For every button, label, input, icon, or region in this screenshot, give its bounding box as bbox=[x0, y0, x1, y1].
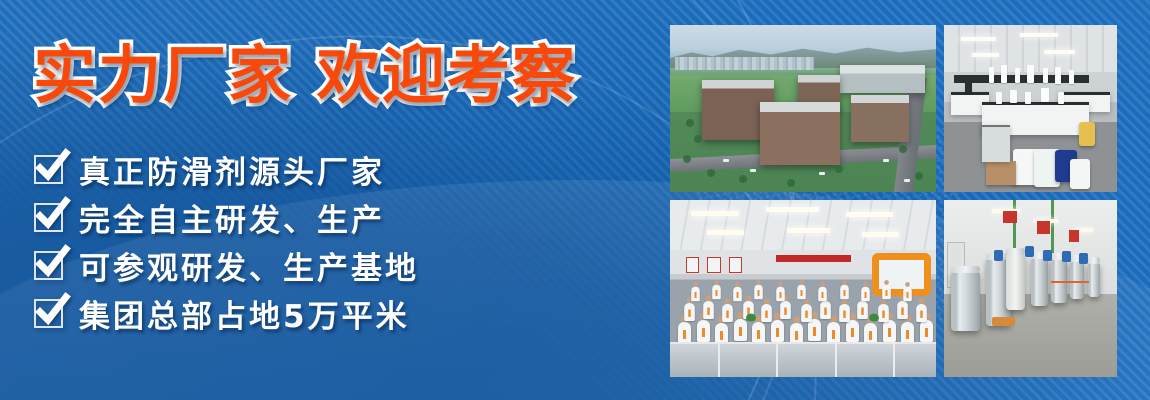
list-item: 完全自主研发、生产 bbox=[34, 194, 419, 241]
copy-panel: 实力厂家 欢迎考察 真正防滑剂源头厂家 完全自主研发、生产 bbox=[0, 0, 660, 400]
photo-grid bbox=[670, 25, 1117, 377]
photo-laboratory bbox=[944, 25, 1117, 192]
list-item-label: 集团总部占地5万平米 bbox=[79, 291, 410, 336]
photo-production-tanks bbox=[944, 200, 1117, 377]
checkbox-check-icon bbox=[34, 251, 63, 280]
promo-banner: 实力厂家 欢迎考察 真正防滑剂源头厂家 完全自主研发、生产 bbox=[0, 0, 1150, 400]
feature-list: 真正防滑剂源头厂家 完全自主研发、生产 可参观研发、生产基地 bbox=[34, 146, 419, 338]
list-item: 可参观研发、生产基地 bbox=[34, 242, 419, 289]
photo-office-staff bbox=[670, 200, 936, 377]
checkbox-check-icon bbox=[34, 155, 63, 184]
list-item: 真正防滑剂源头厂家 bbox=[34, 146, 419, 193]
photo-factory-campus-aerial bbox=[670, 25, 936, 192]
list-item-label: 真正防滑剂源头厂家 bbox=[79, 147, 385, 192]
checkbox-check-icon bbox=[34, 299, 63, 328]
list-item: 集团总部占地5万平米 bbox=[34, 290, 419, 337]
list-item-label: 完全自主研发、生产 bbox=[79, 195, 385, 240]
headline: 实力厂家 欢迎考察 bbox=[33, 44, 577, 107]
list-item-label: 可参观研发、生产基地 bbox=[79, 243, 419, 288]
checkbox-check-icon bbox=[34, 203, 63, 232]
